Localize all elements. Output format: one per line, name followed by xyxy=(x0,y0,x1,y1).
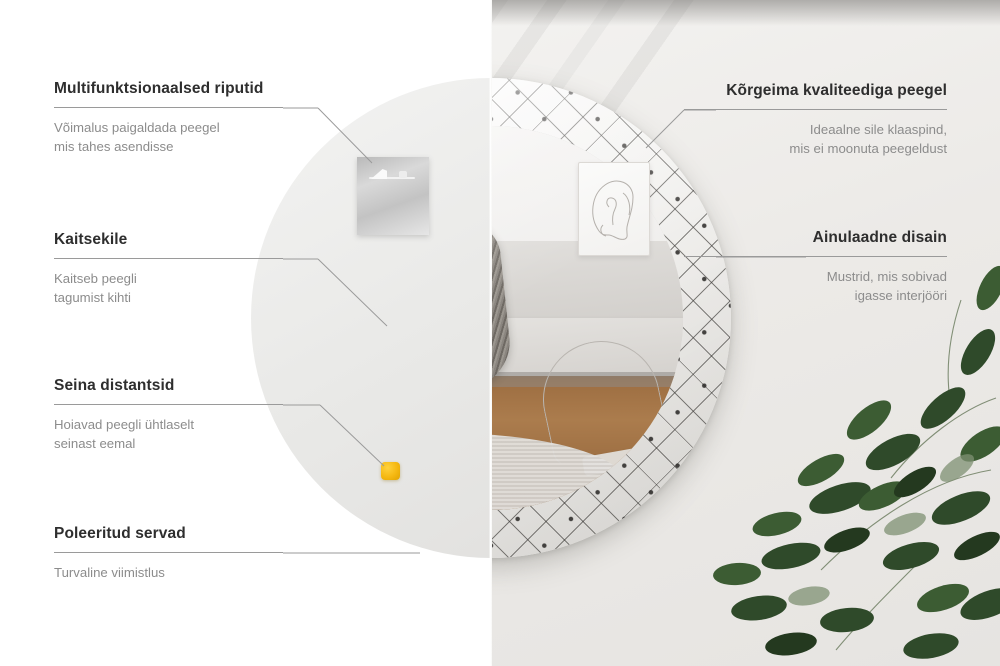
callout-polished-edges: Poleeritud servad Turvaline viimistlus xyxy=(54,525,283,583)
callout-unique-design-rule xyxy=(684,256,947,257)
line-art-portrait-drawing xyxy=(579,163,649,255)
callout-polished-edges-rule xyxy=(54,552,283,553)
callout-unique-design: Ainulaadne disain Mustrid, mis sobivad i… xyxy=(684,229,947,305)
callout-protective-film-title: Kaitsekile xyxy=(54,231,283,249)
yellow-wall-spacer xyxy=(381,462,400,480)
callout-wall-spacers-title: Seina distantsid xyxy=(54,377,283,395)
callout-hangers-rule xyxy=(54,107,283,108)
photo-top-shadow xyxy=(491,0,1000,26)
callout-hangers-title: Multifunktsionaalsed riputid xyxy=(54,80,283,98)
callout-unique-design-desc: Mustrid, mis sobivad igasse interjööri xyxy=(684,268,947,305)
callout-top-quality: Kõrgeima kvaliteediga peegel Ideaalne si… xyxy=(684,82,947,158)
callout-protective-film-desc: Kaitseb peegli tagumist kihti xyxy=(54,270,283,307)
hanger-hook-icon xyxy=(369,169,415,181)
callout-top-quality-rule xyxy=(684,109,947,110)
callout-polished-edges-title: Poleeritud servad xyxy=(54,525,283,543)
callout-wall-spacers: Seina distantsid Hoiavad peegli ühtlasel… xyxy=(54,377,283,453)
hanger-bracket-plate xyxy=(357,157,429,235)
callout-wall-spacers-rule xyxy=(54,404,283,405)
callout-unique-design-title: Ainulaadne disain xyxy=(684,229,947,247)
callout-top-quality-title: Kõrgeima kvaliteediga peegel xyxy=(684,82,947,100)
callout-top-quality-desc: Ideaalne sile klaaspind, mis ei moonuta … xyxy=(684,121,947,158)
panel-seam-divider xyxy=(489,0,492,666)
mirror-silhouette xyxy=(251,78,491,558)
callout-protective-film: Kaitsekile Kaitseb peegli tagumist kihti xyxy=(54,231,283,307)
callout-wall-spacers-desc: Hoiavad peegli ühtlaselt seinast eemal xyxy=(54,416,283,453)
line-art-portrait-poster xyxy=(578,162,650,256)
callout-hangers-desc: Võimalus paigaldada peegel mis tahes ase… xyxy=(54,119,283,156)
callout-protective-film-rule xyxy=(54,258,283,259)
callout-hangers: Multifunktsionaalsed riputid Võimalus pa… xyxy=(54,80,283,156)
callout-polished-edges-desc: Turvaline viimistlus xyxy=(54,564,283,583)
infographic-stage: Multifunktsionaalsed riputid Võimalus pa… xyxy=(0,0,1000,666)
